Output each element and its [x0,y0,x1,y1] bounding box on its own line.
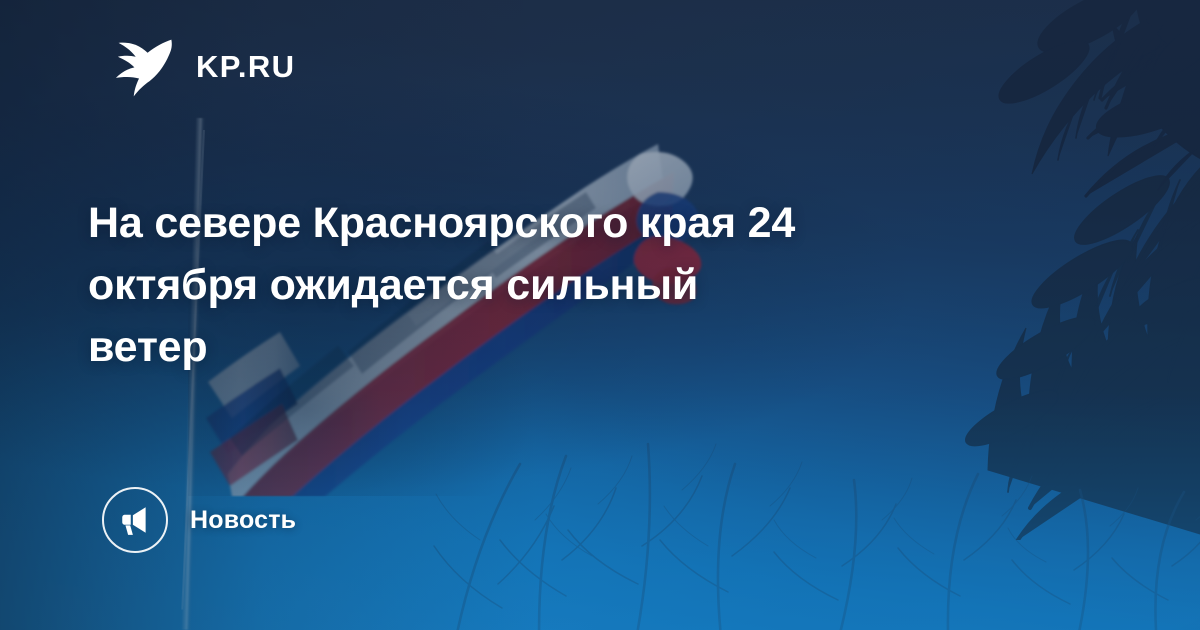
card-content: KP.RU На севере Красноярского края 24 ок… [0,0,1200,630]
status-badge[interactable]: Новость [102,487,296,553]
megaphone-icon [102,487,168,553]
news-share-card: KP.RU На севере Красноярского края 24 ок… [0,0,1200,630]
brand-lockup[interactable]: KP.RU [108,33,295,99]
status-badge-label: Новость [190,506,296,535]
swallow-bird-icon [108,33,174,99]
brand-name: KP.RU [196,51,295,82]
page-title: На севере Красноярского края 24 октября … [88,192,1088,378]
